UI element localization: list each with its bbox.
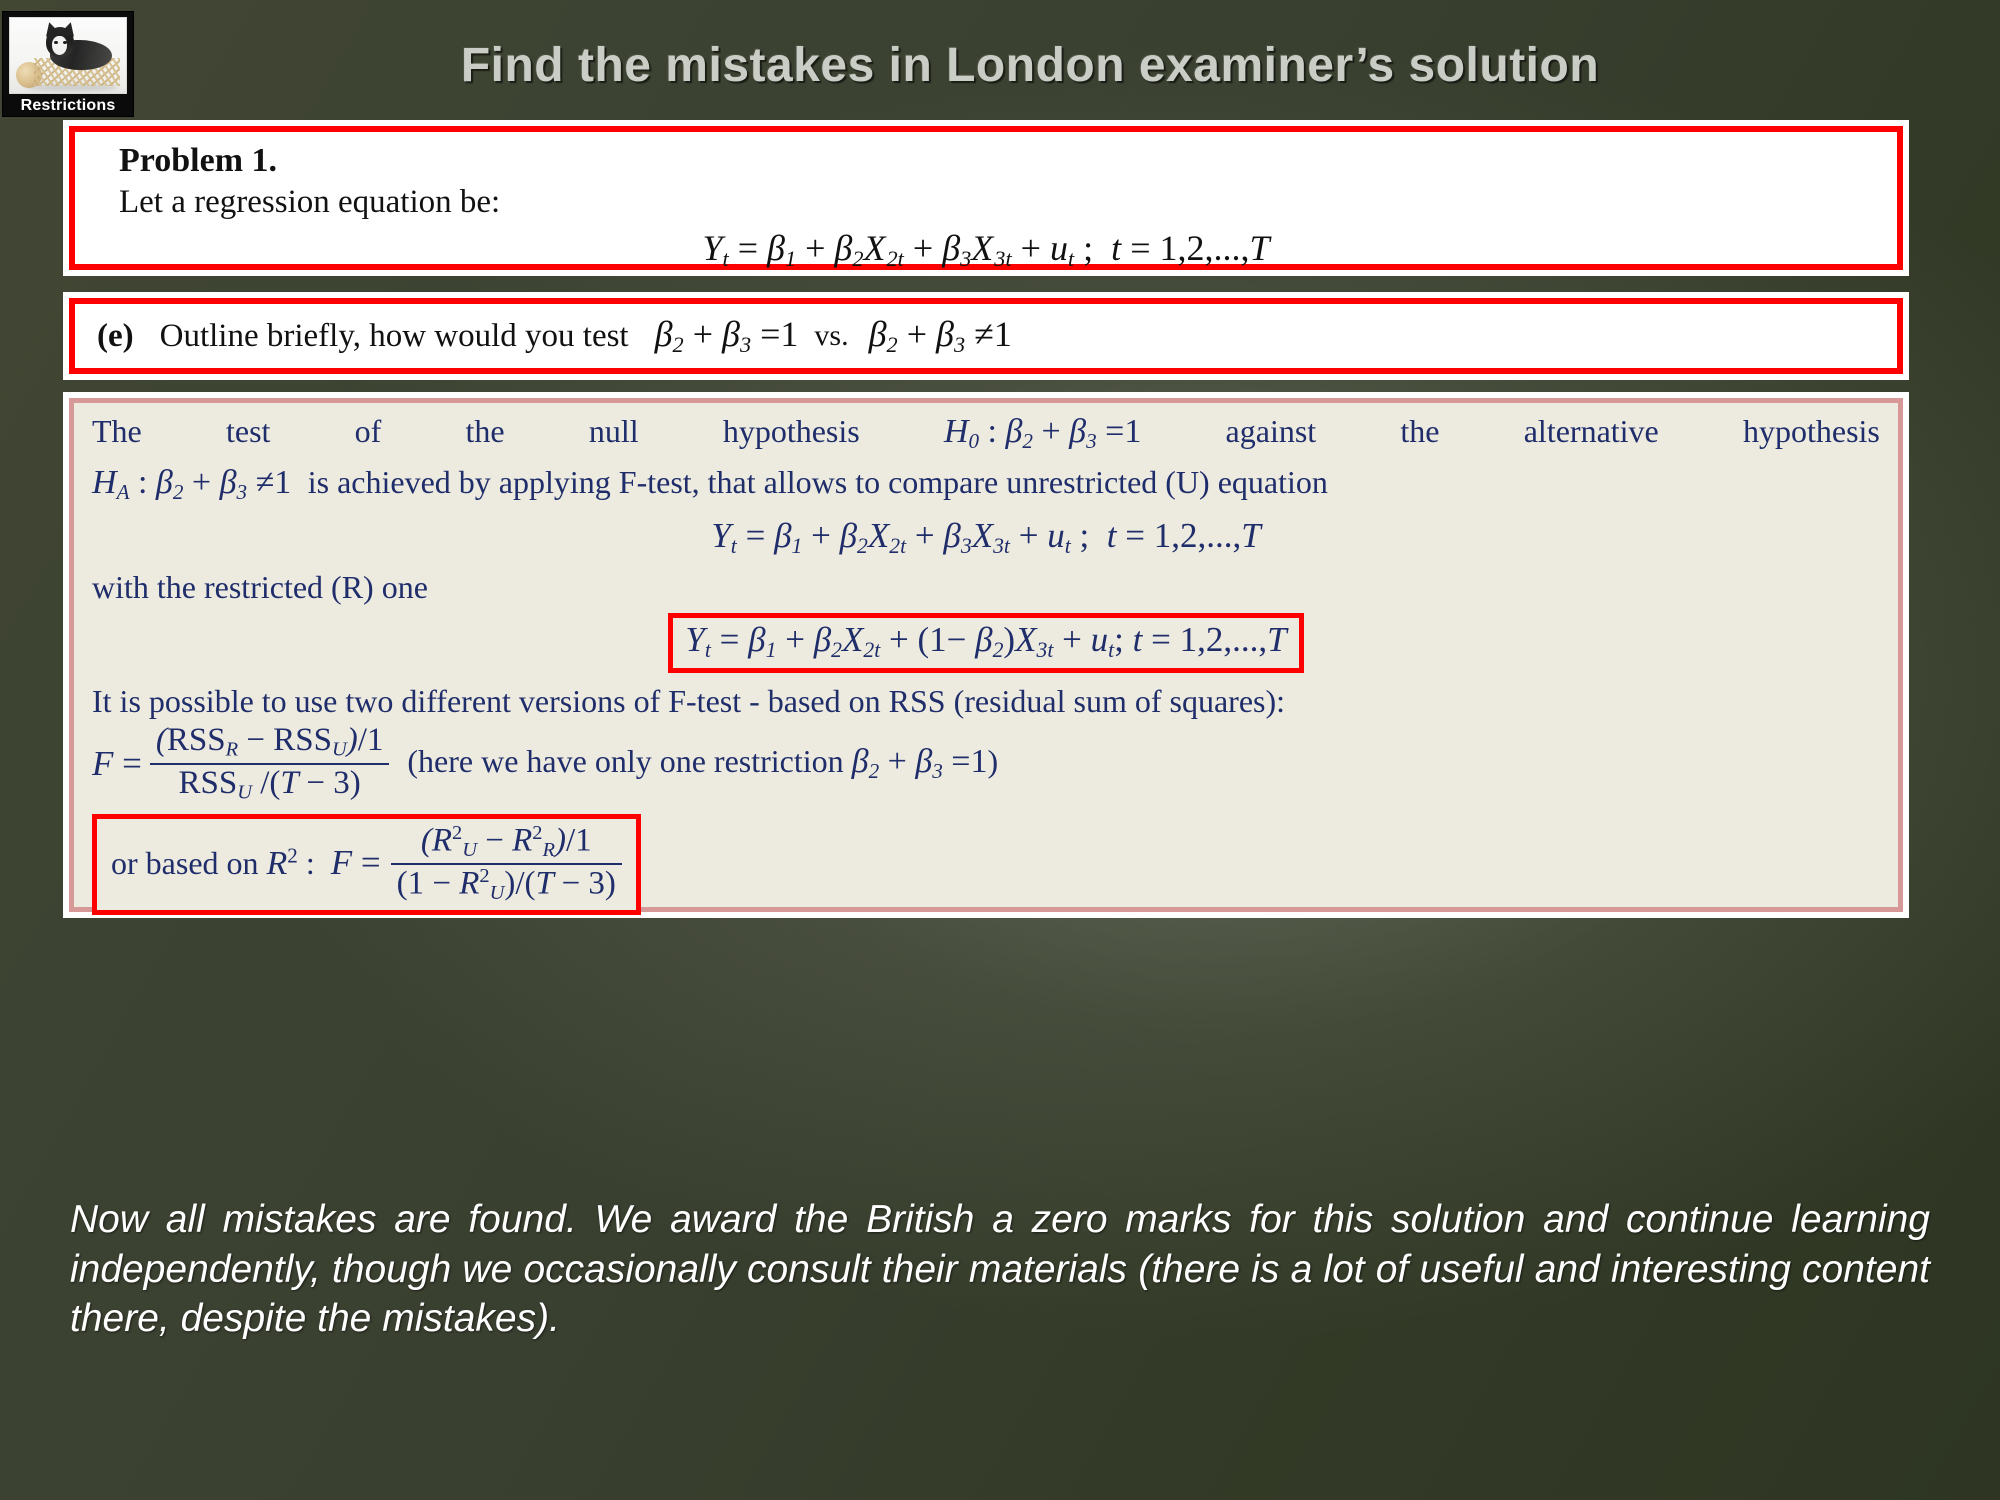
- problem-equation: Yt = β1 + β2X2t + β3X3t + ut ; t = 1,2,.…: [702, 228, 1269, 268]
- restricted-equation-box: Yt = β1 + β2X2t + (1− β2)X3t + ut; t = 1…: [668, 613, 1303, 672]
- sol-l1-hypothesis2: hypothesis: [1743, 415, 1880, 448]
- unrestricted-equation: Yt = β1 + β2X2t + β3X3t + ut ; t = 1,2,.…: [711, 516, 1260, 555]
- restricted-equation-row: Yt = β1 + β2X2t + (1− β2)X3t + ut; t = 1…: [92, 613, 1880, 672]
- f-rss-fraction: (RSSR − RSSU)/1 RSSU /(T − 3): [150, 723, 389, 804]
- page-title: Find the mistakes in London examiner’s s…: [180, 38, 1880, 93]
- f-rss-denominator: RSSU /(T − 3): [150, 765, 389, 804]
- f-rss-lhs: F =: [92, 746, 142, 782]
- restricted-equation: Yt = β1 + β2X2t + (1− β2)X3t + ut; t = 1…: [685, 620, 1286, 659]
- f-r2-denominator: (1 − R2U)/(T − 3): [391, 865, 622, 905]
- solution-panel: The test of the null hypothesis H0 : β2 …: [63, 392, 1909, 918]
- null-hypothesis-expression: H0 : β2 + β3 =1: [944, 415, 1141, 452]
- sol-l1-the2: the: [466, 415, 505, 448]
- sol-l1-against: against: [1226, 415, 1317, 448]
- question-panel: (e) Outline briefly, how would you test …: [63, 292, 1909, 380]
- f-rss-numerator: (RSSR − RSSU)/1: [150, 723, 389, 764]
- f-r2-numerator: (R2U − R2R)/1: [391, 823, 622, 865]
- f-r2-box: or based on R2 : F = (R2U − R2R)/1 (1 − …: [92, 814, 641, 915]
- f-r2-lead: or based on R2 : F =: [111, 845, 381, 882]
- question-vs-label: vs.: [814, 319, 848, 353]
- solution-line-4: It is possible to use two different vers…: [92, 685, 1880, 718]
- slide-canvas: Restrictions Find the mistakes in London…: [0, 0, 2000, 1500]
- alternative-hypothesis-expression: HA : β2 + β3 ≠1: [92, 464, 300, 501]
- f-statistic-r2-row: or based on R2 : F = (R2U − R2R)/1 (1 − …: [92, 814, 1880, 915]
- question-item-label: (e): [97, 318, 134, 355]
- problem-heading: Problem 1.: [119, 142, 1875, 180]
- sol-l2-text: is achieved by applying F-test, that all…: [308, 464, 1328, 500]
- sol-l1-alternative: alternative: [1524, 415, 1659, 448]
- f-statistic-rss-row: F = (RSSR − RSSU)/1 RSSU /(T − 3) (here …: [92, 723, 1880, 804]
- problem-intro: Let a regression equation be:: [119, 184, 1875, 221]
- solution-line-2: HA : β2 + β3 ≠1 is achieved by applying …: [92, 466, 1880, 503]
- unrestricted-equation-row: Yt = β1 + β2X2t + β3X3t + ut ; t = 1,2,.…: [92, 516, 1880, 559]
- slide-caption: Now all mistakes are found. We award the…: [70, 1195, 1930, 1344]
- sol-l1-null: null: [589, 415, 639, 448]
- sol-l1-hypothesis: hypothesis: [723, 415, 860, 448]
- question-null-expression: β2 + β3 =1: [655, 313, 799, 358]
- question-alt-expression: β2 + β3 ≠1: [869, 313, 1012, 358]
- restrictions-thumbnail[interactable]: Restrictions: [2, 11, 134, 117]
- solution-line-3: with the restricted (R) one: [92, 571, 1880, 604]
- f-rss-note: (here we have only one restriction β2 + …: [407, 745, 998, 782]
- sol-l1-of: of: [355, 415, 382, 448]
- solution-line-1: The test of the null hypothesis H0 : β2 …: [92, 415, 1880, 452]
- cat-photo-icon: [9, 17, 127, 94]
- sol-l1-the: The: [92, 415, 142, 448]
- problem-panel: Problem 1. Let a regression equation be:…: [63, 120, 1909, 276]
- sol-l1-test: test: [226, 415, 270, 448]
- sol-l1-the3: the: [1400, 415, 1439, 448]
- question-text: Outline briefly, how would you test: [160, 318, 629, 355]
- thumbnail-label: Restrictions: [21, 96, 116, 116]
- f-r2-fraction: (R2U − R2R)/1 (1 − R2U)/(T − 3): [391, 823, 622, 904]
